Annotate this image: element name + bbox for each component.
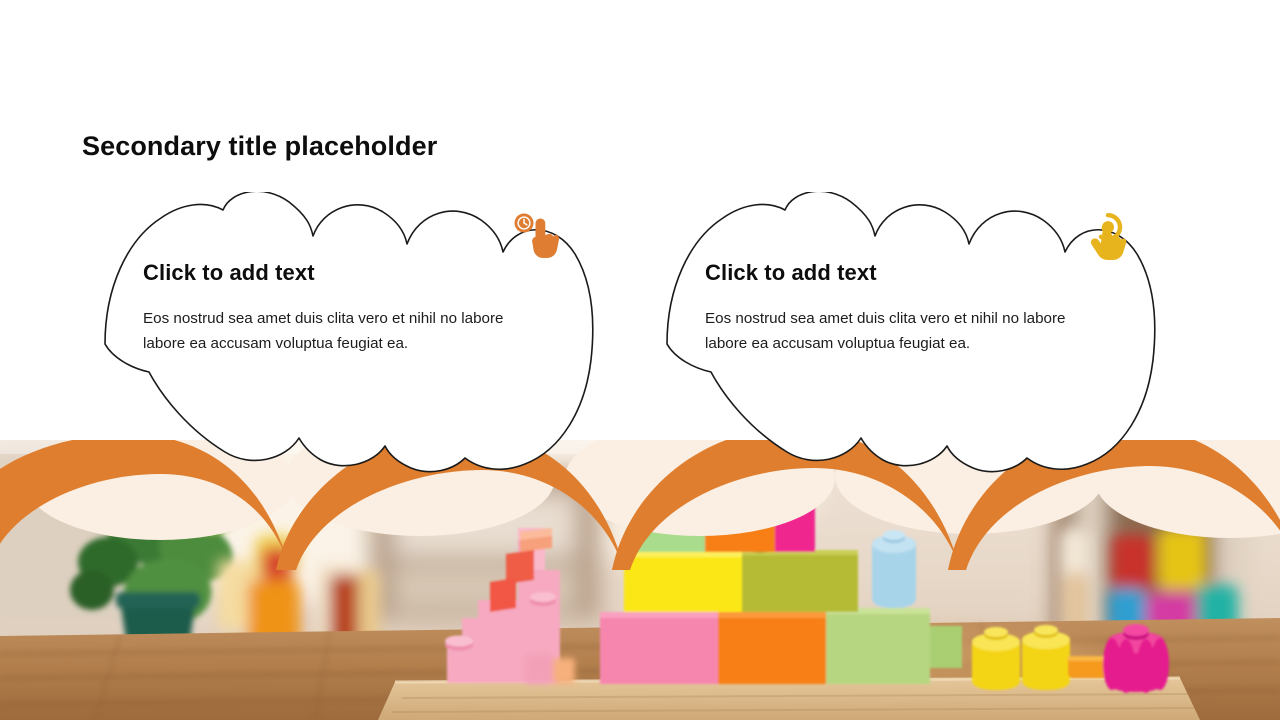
magenta-block — [775, 498, 815, 552]
cloud-bubble-2[interactable]: Click to add text Eos nostrud sea amet d… — [655, 192, 1165, 482]
light-blue-round-block — [872, 530, 916, 608]
tap-and-hold-hand-icon[interactable] — [510, 210, 566, 266]
olive-block — [742, 550, 858, 612]
cloud-bubble-1[interactable]: Click to add text Eos nostrud sea amet d… — [93, 192, 603, 482]
playroom-photo — [0, 440, 1280, 720]
bubble-1-heading[interactable]: Click to add text — [143, 260, 553, 286]
yellow-block — [624, 552, 742, 612]
bubble-2-content: Click to add text Eos nostrud sea amet d… — [705, 260, 1115, 356]
bubble-1-body[interactable]: Eos nostrud sea amet duis clita vero et … — [143, 307, 535, 356]
orange-block-lower — [718, 612, 826, 684]
tap-hand-icon[interactable] — [1074, 209, 1130, 265]
photo-background — [0, 440, 1280, 720]
pink-block — [600, 612, 718, 684]
orange-block-upper — [705, 500, 775, 552]
bubble-2-body[interactable]: Eos nostrud sea amet duis clita vero et … — [705, 307, 1097, 356]
wooden-table — [378, 678, 1200, 720]
bubble-2-heading[interactable]: Click to add text — [705, 260, 1115, 286]
light-green-block — [826, 608, 930, 684]
green-block — [628, 498, 705, 552]
slide-canvas: Secondary title placeholder Click to add… — [0, 0, 1280, 720]
page-title: Secondary title placeholder — [82, 131, 437, 162]
bubble-1-content: Click to add text Eos nostrud sea amet d… — [143, 260, 553, 356]
